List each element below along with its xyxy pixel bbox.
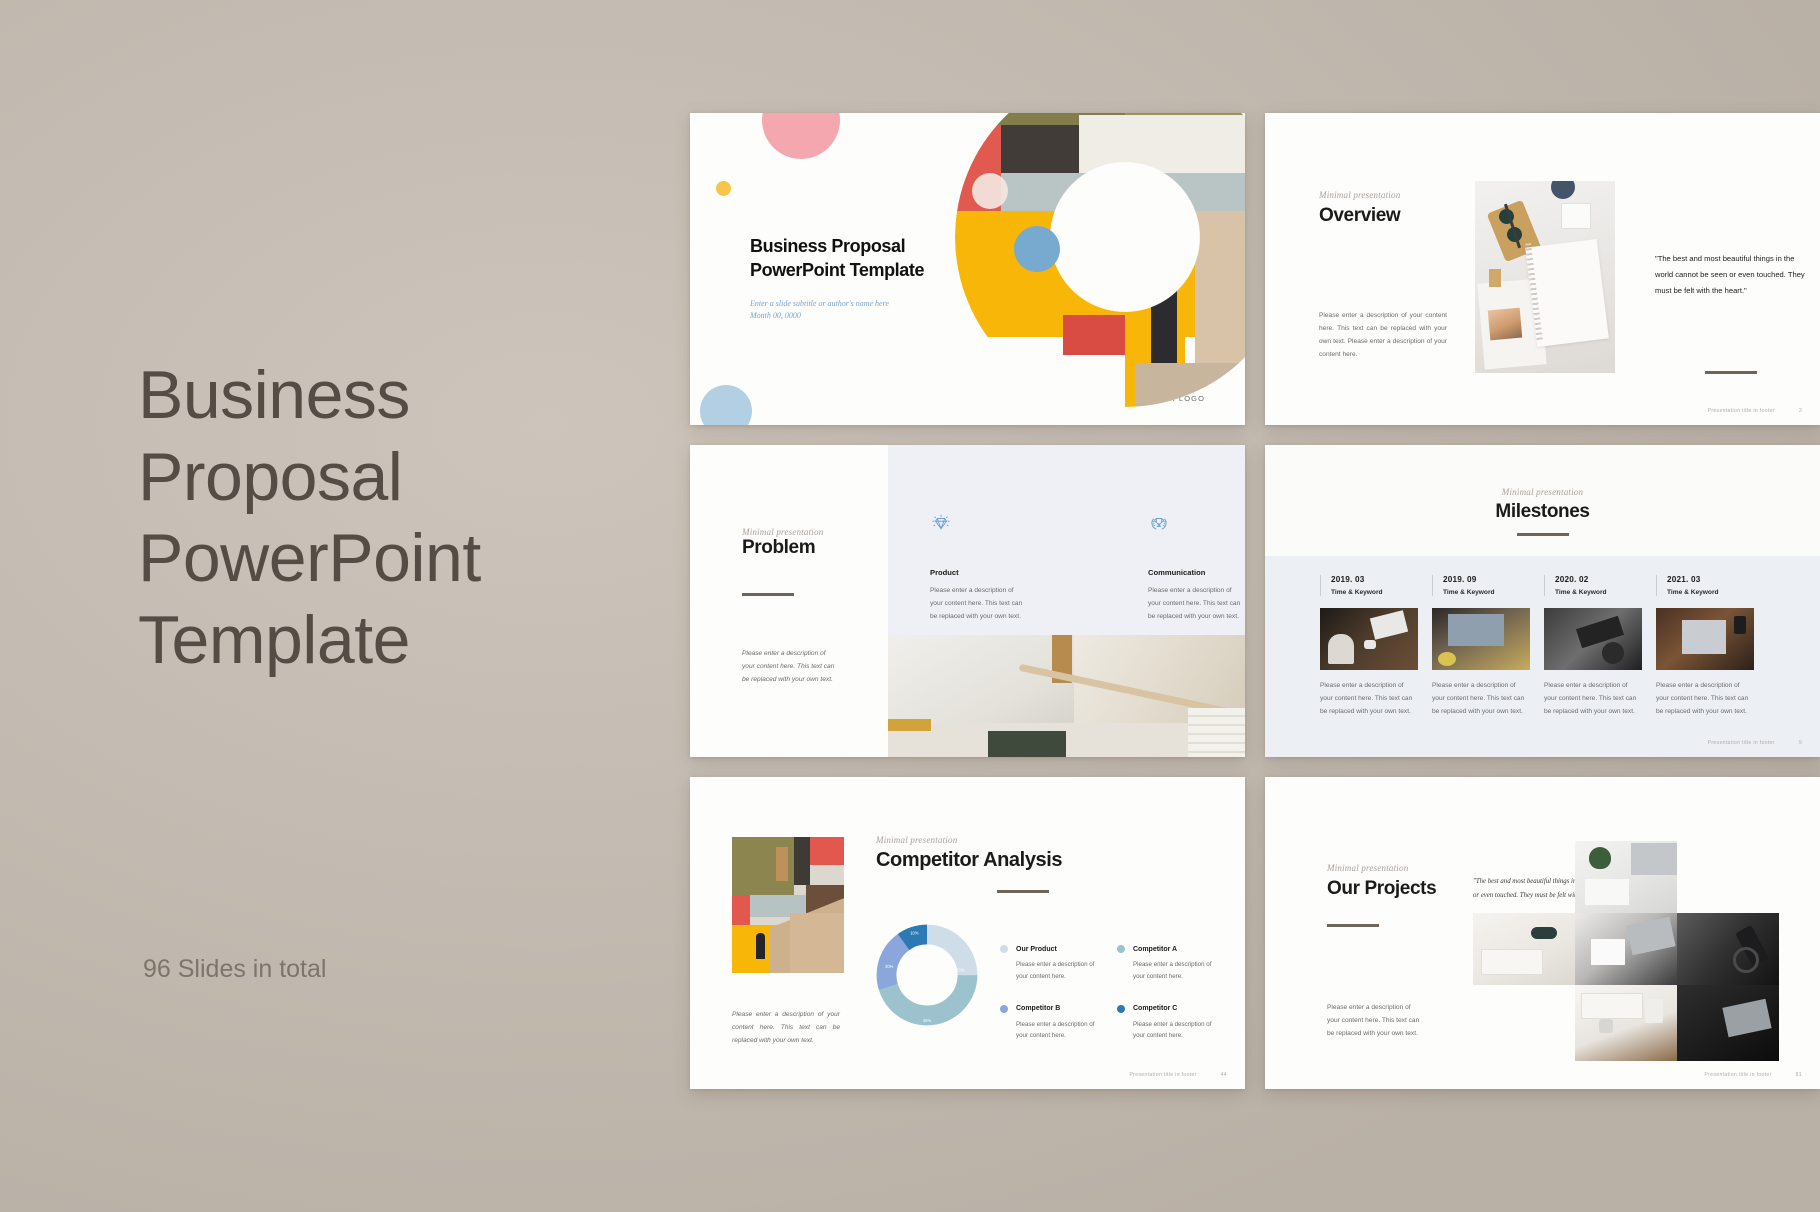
slide-title: Our Projects: [1327, 878, 1436, 900]
slide-thumbnail-problem[interactable]: Minimal presentation Problem Please ente…: [690, 445, 1245, 757]
slide-eyebrow: Minimal presentation: [1265, 487, 1820, 497]
decor-circle-yellow: [716, 181, 731, 196]
milestone-photo: [1656, 608, 1754, 670]
slide-footer: Presentation title in footer 81: [1704, 1072, 1802, 1078]
milestone-body: Please enter a description of your conte…: [1320, 680, 1418, 719]
decor-circle-pink: [762, 113, 840, 159]
milestone-body: Please enter a description of your conte…: [1544, 680, 1642, 719]
accent-rule: [1705, 371, 1757, 374]
project-photo: [1575, 841, 1677, 913]
milestone-year: 2020. 02: [1555, 575, 1642, 584]
page-number: 3: [1799, 408, 1802, 414]
donut-chart: 25% 45% 20% 10%: [873, 921, 981, 1029]
milestone-date-block: 2019. 03 Time & Keyword: [1320, 575, 1418, 596]
footer-title: Presentation title in footer: [1129, 1072, 1196, 1078]
milestone-year: 2019. 03: [1331, 575, 1418, 584]
slide-thumbnail-overview[interactable]: Minimal presentation Overview Please ent…: [1265, 113, 1820, 425]
footer-title: Presentation title in footer: [1708, 408, 1775, 414]
milestone-item: 2019. 03 Time & Keyword Please enter a d…: [1320, 575, 1418, 719]
feature-column-product: Product Please enter a description of yo…: [930, 513, 1025, 624]
desk-flatlay-photo: [1475, 181, 1615, 373]
slide-eyebrow: Minimal presentation: [1319, 190, 1451, 200]
feature-body: Please enter a description of your conte…: [930, 585, 1025, 624]
donut-chart-svg: 25% 45% 20% 10%: [873, 921, 981, 1029]
slide-eyebrow: Minimal presentation: [876, 835, 1062, 845]
slide-thumbnail-competitor-analysis[interactable]: Minimal presentation Competitor Analysis…: [690, 777, 1245, 1089]
quote-text: "The best and most beautiful things in t…: [1655, 251, 1805, 299]
legend-description: Please enter a description of your conte…: [1133, 959, 1220, 983]
milestone-item: 2020. 02 Time & Keyword Please enter a d…: [1544, 575, 1642, 719]
milestone-keyword: Time & Keyword: [1667, 589, 1754, 596]
legend-label: Competitor B: [1016, 1005, 1060, 1012]
slide-eyebrow: Minimal presentation: [1327, 863, 1436, 873]
project-photo: [1575, 913, 1677, 985]
slide-footer: Presentation title in footer 3: [1708, 408, 1802, 414]
legend-bullet: [1117, 945, 1125, 953]
trophy-wreath-icon: [1148, 522, 1170, 539]
donut-label-competitor-b: 20%: [885, 964, 894, 969]
milestone-keyword: Time & Keyword: [1331, 589, 1418, 596]
legend-item-competitor-a: Competitor A Please enter a description …: [1117, 945, 1220, 983]
slide-heading: Business Proposal PowerPoint Template: [750, 235, 924, 283]
slide-footer: Presentation title in footer 9: [1708, 740, 1802, 746]
milestone-photo: [1320, 608, 1418, 670]
slide-deck: Business Proposal PowerPoint Template En…: [690, 113, 1820, 1098]
page-number: 81: [1796, 1072, 1802, 1078]
milestone-body: Please enter a description of your conte…: [1656, 680, 1754, 719]
milestone-date-block: 2019. 09 Time & Keyword: [1432, 575, 1530, 596]
footer-title: Presentation title in footer: [1704, 1072, 1771, 1078]
slide-description: Please enter a description of your conte…: [742, 648, 837, 687]
hero-panel: Business Proposal PowerPoint Template: [138, 355, 568, 681]
decor-circle-cream: [972, 173, 1008, 209]
accent-rule: [1517, 533, 1569, 536]
donut-label-our-product: 25%: [956, 967, 965, 972]
slide-description: Please enter a description of your conte…: [1327, 1002, 1425, 1041]
legend-label: Our Product: [1016, 946, 1057, 953]
slide-count-label: 96 Slides in total: [143, 955, 326, 984]
slide-thumbnail-title[interactable]: Business Proposal PowerPoint Template En…: [690, 113, 1245, 425]
decor-circle-steel: [1014, 226, 1060, 272]
projects-heading-block: Minimal presentation Our Projects: [1327, 863, 1436, 900]
legend-description: Please enter a description of your conte…: [1016, 959, 1103, 983]
problem-heading-block: Minimal presentation Problem: [742, 527, 823, 559]
milestone-year: 2021. 03: [1667, 575, 1754, 584]
milestone-list: 2019. 03 Time & Keyword Please enter a d…: [1320, 575, 1754, 719]
legend-description: Please enter a description of your conte…: [1133, 1019, 1220, 1043]
title-slide-text: Business Proposal PowerPoint Template En…: [750, 235, 924, 322]
page-number: 9: [1799, 740, 1802, 746]
title-collage-ring: [955, 113, 1245, 407]
problem-feature-columns: Product Please enter a description of yo…: [930, 513, 1243, 624]
accent-rule: [997, 890, 1049, 893]
footer-title: Presentation title in footer: [1708, 740, 1775, 746]
slide-thumbnail-our-projects[interactable]: Minimal presentation Our Projects Please…: [1265, 777, 1820, 1089]
feature-body: Please enter a description of your conte…: [1148, 585, 1243, 624]
legend-label: Competitor C: [1133, 1005, 1177, 1012]
project-photo: [1473, 913, 1575, 985]
legend-bullet: [1000, 1005, 1008, 1013]
slide-title: Problem: [742, 537, 823, 559]
legend-bullet: [1117, 1005, 1125, 1013]
milestone-photo: [1544, 608, 1642, 670]
legend-bullet: [1000, 945, 1008, 953]
decor-circle-blue: [700, 385, 752, 425]
project-photo: [1575, 985, 1677, 1061]
diamond-icon: [930, 522, 952, 539]
project-image-grid: [1473, 841, 1779, 1061]
milestone-photo: [1432, 608, 1530, 670]
slide-thumbnail-milestones[interactable]: Minimal presentation Milestones 2019. 03…: [1265, 445, 1820, 757]
milestone-body: Please enter a description of your conte…: [1432, 680, 1530, 719]
slide-title: Milestones: [1265, 501, 1820, 523]
legend-item-competitor-b: Competitor B Please enter a description …: [1000, 1005, 1103, 1043]
slide-title: Competitor Analysis: [876, 849, 1062, 872]
milestone-date-block: 2021. 03 Time & Keyword: [1656, 575, 1754, 596]
page-title: Business Proposal PowerPoint Template: [138, 355, 568, 681]
project-photo: [1677, 913, 1779, 985]
interior-stairs-photo: [888, 635, 1245, 757]
slide-title: Overview: [1319, 205, 1451, 227]
project-photo: [1677, 985, 1779, 1061]
donut-label-competitor-c: 10%: [910, 931, 919, 936]
page-number: 44: [1221, 1072, 1227, 1078]
slide-description: Please enter a description of your conte…: [1319, 310, 1447, 361]
slide-footer: Presentation title in footer 44: [1129, 1072, 1227, 1078]
milestone-keyword: Time & Keyword: [1555, 589, 1642, 596]
milestones-heading-block: Minimal presentation Milestones: [1265, 487, 1820, 536]
milestone-keyword: Time & Keyword: [1443, 589, 1530, 596]
legend-label: Competitor A: [1133, 946, 1177, 953]
milestone-date-block: 2020. 02 Time & Keyword: [1544, 575, 1642, 596]
feature-heading: Communication: [1148, 568, 1243, 577]
architecture-collage-photo: [732, 837, 844, 973]
chart-legend: Our Product Please enter a description o…: [1000, 945, 1220, 1042]
overview-heading-block: Minimal presentation Overview: [1319, 190, 1451, 227]
accent-rule: [1327, 924, 1379, 927]
milestone-item: 2019. 09 Time & Keyword Please enter a d…: [1432, 575, 1530, 719]
feature-column-communication: Communication Please enter a description…: [1148, 513, 1243, 624]
problem-left-column: Minimal presentation Problem Please ente…: [690, 445, 888, 757]
donut-label-competitor-a: 45%: [923, 1018, 932, 1023]
slide-description: Please enter a description of your conte…: [732, 1009, 840, 1048]
slide-subtitle: Enter a slide subtitle or author's name …: [750, 298, 924, 323]
milestone-year: 2019. 09: [1443, 575, 1530, 584]
legend-item-competitor-c: Competitor C Please enter a description …: [1117, 1005, 1220, 1043]
legend-description: Please enter a description of your conte…: [1016, 1019, 1103, 1043]
legend-item-our-product: Our Product Please enter a description o…: [1000, 945, 1103, 983]
slide-eyebrow: Minimal presentation: [742, 527, 823, 537]
milestone-item: 2021. 03 Time & Keyword Please enter a d…: [1656, 575, 1754, 719]
feature-heading: Product: [930, 568, 1025, 577]
accent-rule: [742, 593, 794, 596]
competitor-heading-block: Minimal presentation Competitor Analysis: [876, 835, 1062, 872]
